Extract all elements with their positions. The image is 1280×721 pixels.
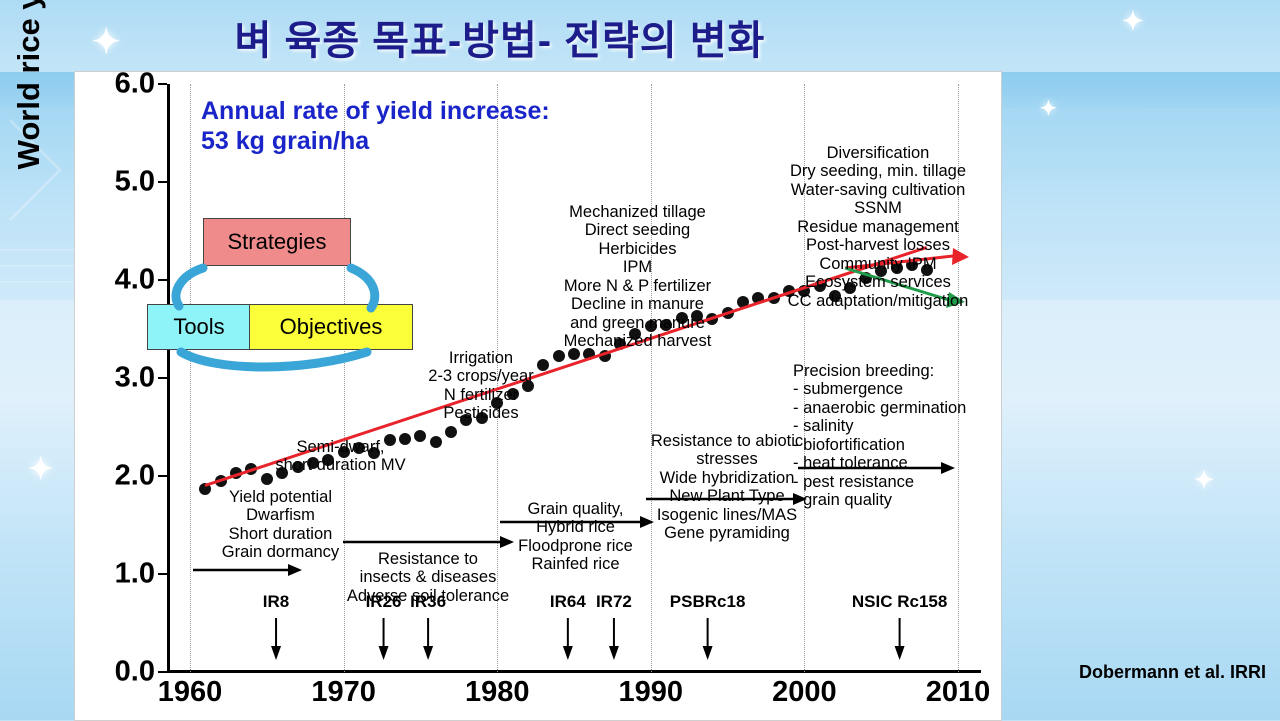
sparkle-icon-5: ✦: [1194, 466, 1214, 495]
variety-label: IR36: [410, 592, 446, 612]
annual-rate-annotation: Annual rate of yield increase: 53 kg gra…: [201, 96, 550, 156]
era-1990s-line: New Plant Type: [637, 487, 817, 505]
tools-1960s-line: Semi-dwarf,: [253, 438, 428, 456]
variety-label: IR72: [596, 592, 632, 612]
y-tick-mark: [158, 181, 167, 183]
y-tick-label: 4.0: [115, 264, 155, 297]
tools-1970s-line: 2-3 crops/year: [411, 367, 551, 385]
y-axis-label: World rice yield (t/ha): [11, 0, 47, 222]
era-2000s-line: - pest resistance: [793, 473, 983, 491]
y-tick-label: 0.0: [115, 656, 155, 689]
variety-label: IR8: [263, 592, 289, 612]
x-tick-label: 1980: [465, 676, 530, 709]
y-tick-label: 1.0: [115, 558, 155, 591]
era-2000s-line: - salinity: [793, 417, 983, 435]
tools-1980s-line: Herbicides: [535, 240, 740, 258]
annual-rate-line-2: 53 kg grain/ha: [201, 126, 550, 156]
era-1960s-line: Short duration: [193, 525, 368, 543]
y-tick-mark: [158, 83, 167, 85]
era-1960s-line: Yield potential: [193, 488, 368, 506]
page-title: 벼 육종 목표-방법- 전략의 변화: [0, 8, 1000, 66]
tools-1980s-line: Decline in manure: [535, 295, 740, 313]
era-2000s-line: - grain quality: [793, 491, 983, 509]
era-2000s-line: - anaerobic germination: [793, 399, 983, 417]
y-tick-label: 3.0: [115, 362, 155, 395]
tools-1980s-line: and green manure: [535, 314, 740, 332]
y-tick-label: 6.0: [115, 68, 155, 101]
sparkle-icon-4: ✦: [28, 452, 53, 487]
tools-1960s-line: short duration MV: [253, 456, 428, 474]
tools-1970s-line: Irrigation: [411, 349, 551, 367]
box-strategies[interactable]: Strategies: [203, 218, 351, 266]
era-1980s-line: Rainfed rice: [493, 555, 658, 573]
era-2000s-line: - submergence: [793, 380, 983, 398]
tools-1980s-line: Direct seeding: [535, 221, 740, 239]
gridline-vertical: [190, 84, 192, 672]
era-1980s: Grain quality,Hybrid riceFloodprone rice…: [493, 500, 658, 574]
era-1990s-line: Isogenic lines/MAS: [637, 506, 817, 524]
y-tick-label: 5.0: [115, 166, 155, 199]
era-1990s-line: stresses: [637, 450, 817, 468]
era-1990s-line: Wide hybridization: [637, 469, 817, 487]
variety-label: NSIC Rc158: [852, 592, 947, 612]
chart-container: World rice yield (t/ha) 0.01.02.03.04.05…: [74, 71, 1002, 721]
sparkle-icon-3: ✦: [1040, 96, 1057, 121]
tools-1970s-line: N fertilizer: [411, 386, 551, 404]
y-tick-mark: [158, 475, 167, 477]
x-tick-label: 1990: [619, 676, 684, 709]
era-1990s-line: Resistance to abiotic: [637, 432, 817, 450]
variety-label: PSBRc18: [670, 592, 746, 612]
tools-2000s-line: Diversification: [765, 144, 991, 162]
era-1980s-line: Grain quality,: [493, 500, 658, 518]
tools-1970s: Irrigation2-3 crops/yearN fertilizerPest…: [411, 349, 551, 423]
y-tick-mark: [158, 573, 167, 575]
data-point: [445, 426, 457, 438]
gridline-vertical: [651, 84, 653, 672]
tools-1980s: Mechanized tillageDirect seedingHerbicid…: [535, 203, 740, 351]
tools-2000s-line: Ecosystem services: [765, 273, 991, 291]
tools-2000s-line: Community IPM: [765, 255, 991, 273]
tools-1980s-line: IPM: [535, 258, 740, 276]
tools-1960s: Semi-dwarf,short duration MV: [253, 438, 428, 475]
box-tools[interactable]: Tools: [147, 304, 251, 350]
variety-label: IR26: [366, 592, 402, 612]
x-tick-label: 1970: [311, 676, 376, 709]
annual-rate-line-1: Annual rate of yield increase:: [201, 96, 550, 126]
era-1960s-line: Dwarfism: [193, 506, 368, 524]
x-tick-label: 2010: [926, 676, 991, 709]
tools-2000s-line: Water-saving cultivation: [765, 181, 991, 199]
tools-1970s-line: Pesticides: [411, 404, 551, 422]
sparkle-icon-2: ✦: [1122, 6, 1144, 37]
tools-2000s-line: Dry seeding, min. tillage: [765, 162, 991, 180]
tools-2000s-line: CC adaptation/mitigation: [765, 292, 991, 310]
era-1990s: Resistance to abioticstressesWide hybrid…: [637, 432, 817, 543]
y-tick-label: 2.0: [115, 460, 155, 493]
data-point: [430, 436, 442, 448]
era-1980s-line: Hybrid rice: [493, 518, 658, 536]
y-tick-mark: [158, 377, 167, 379]
era-2000s: Precision breeding:- submergence- anaero…: [793, 362, 983, 510]
tools-1980s-line: Mechanized harvest: [535, 332, 740, 350]
tools-2000s: DiversificationDry seeding, min. tillage…: [765, 144, 991, 310]
x-tick-label: 1960: [158, 676, 223, 709]
y-tick-mark: [158, 279, 167, 281]
box-objectives[interactable]: Objectives: [249, 304, 413, 350]
tools-2000s-line: Post-harvest losses: [765, 236, 991, 254]
tools-2000s-line: SSNM: [765, 199, 991, 217]
data-point: [553, 350, 565, 362]
era-2000s-line: - biofortification: [793, 436, 983, 454]
tools-1980s-line: Mechanized tillage: [535, 203, 740, 221]
tools-2000s-line: Residue management: [765, 218, 991, 236]
era-1980s-line: Floodprone rice: [493, 537, 658, 555]
era-2000s-line: Precision breeding:: [793, 362, 983, 380]
tools-1980s-line: More N & P fertilizer: [535, 277, 740, 295]
credit-text: Dobermann et al. IRRI: [1079, 662, 1266, 683]
x-tick-label: 2000: [772, 676, 837, 709]
y-tick-mark: [158, 671, 167, 673]
era-2000s-line: - heat tolerance: [793, 454, 983, 472]
era-1990s-line: Gene pyramiding: [637, 524, 817, 542]
variety-label: IR64: [550, 592, 586, 612]
